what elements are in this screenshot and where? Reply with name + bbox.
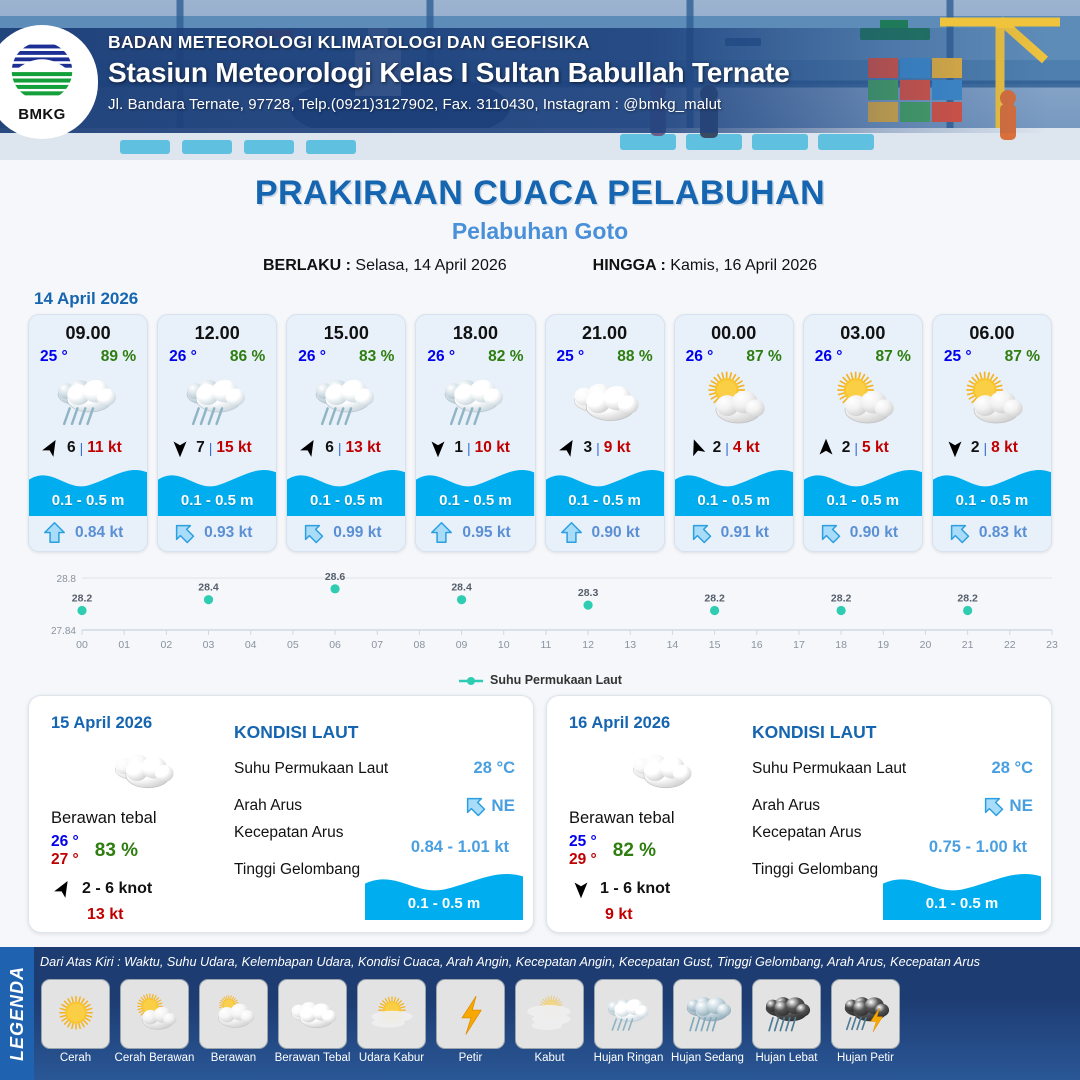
daily-wind-range: 1 - 6 knot <box>600 880 670 898</box>
daily-date: 15 April 2026 <box>51 714 234 733</box>
daily-date: 16 April 2026 <box>569 714 752 733</box>
wind-direction-arrow <box>943 436 967 460</box>
current-row: 0.83 kt <box>933 516 1051 551</box>
svg-text:21: 21 <box>962 639 974 651</box>
svg-text:15: 15 <box>709 639 721 651</box>
gust-speed: 13 kt <box>346 439 381 457</box>
current-direction-arrow <box>979 794 1006 817</box>
wave-height: 0.1 - 0.5 m <box>158 492 276 509</box>
forecast-card: 03.00 26 ° 87 % 2 | 5 kt 0.1 - 0.5 m <box>803 314 923 552</box>
forecast-time: 12.00 <box>158 315 276 344</box>
wind-row: 2 | 8 kt <box>933 434 1051 464</box>
wave-height: 0.1 - 0.5 m <box>804 492 922 509</box>
sst-row: Suhu Permukaan Laut 28 °C <box>234 750 515 787</box>
daily-gust: 13 kt <box>87 906 234 924</box>
svg-text:28.2: 28.2 <box>72 593 93 605</box>
daily-gust: 9 kt <box>605 906 752 924</box>
legend-item-label: Petir <box>459 1052 483 1064</box>
bmkg-logo-text: BMKG <box>4 106 80 123</box>
weather-condition-icon-cerah-berawan <box>804 368 922 434</box>
daily-temp-min: 26 ° <box>51 833 79 851</box>
legend-icon-cerah <box>41 979 110 1049</box>
current-direction-label: Arah Arus <box>752 797 820 815</box>
current-direction-arrow <box>558 521 585 544</box>
daily-left: 15 April 2026 Berawan tebal 26 ° 27 ° <box>29 696 234 932</box>
wave-height-block: 0.1 - 0.5 m <box>287 464 405 516</box>
sst-legend-marker <box>458 675 484 685</box>
gust-speed: 15 kt <box>216 439 251 457</box>
wave-height-block: 0.1 - 0.5 m <box>804 464 922 516</box>
weather-condition-icon-cerah-berawan <box>675 368 793 434</box>
current-direction-row: Arah Arus NE <box>752 787 1033 824</box>
forecast-time: 18.00 <box>416 315 534 344</box>
wave-height-block: 0.1 - 0.5 m <box>158 464 276 516</box>
current-direction-arrow <box>170 521 197 544</box>
legend-item-label: Berawan Tebal <box>275 1052 351 1064</box>
humidity: 83 % <box>359 348 394 366</box>
svg-text:23: 23 <box>1046 639 1058 651</box>
page-title: PRAKIRAAN CUACA PELABUHAN <box>0 174 1080 213</box>
weather-condition-icon-hujan-ringan <box>29 368 147 434</box>
legend-icon-petir <box>436 979 505 1049</box>
svg-text:20: 20 <box>920 639 932 651</box>
legend-item: Cerah <box>38 979 113 1075</box>
air-temperature: 26 ° <box>427 348 455 366</box>
weather-condition-icon-hujan-ringan <box>158 368 276 434</box>
wind-row: 7 | 15 kt <box>158 434 276 464</box>
forecast-card: 18.00 26 ° 82 % 1 | 10 kt <box>415 314 535 552</box>
wind-speed: 6 <box>67 439 76 457</box>
sst-value: 28 °C <box>992 759 1033 778</box>
wind-speed: 2 <box>842 439 851 457</box>
forecast-time: 09.00 <box>29 315 147 344</box>
legend-icon-hujan-sedang <box>673 979 742 1049</box>
legend-side-title: LEGENDA <box>0 947 34 1080</box>
humidity: 88 % <box>617 348 652 366</box>
wave-height: 0.1 - 0.5 m <box>933 492 1051 509</box>
forecast-values: 26 ° 82 % <box>416 344 534 366</box>
forecast-values: 26 ° 87 % <box>675 344 793 366</box>
svg-text:09: 09 <box>456 639 468 651</box>
legend-item: Hujan Lebat <box>749 979 824 1075</box>
daily-temps: 26 ° 27 ° <box>51 833 79 870</box>
svg-text:28.2: 28.2 <box>831 593 852 605</box>
forecast-card: 00.00 26 ° 87 % 2 | 4 kt 0.1 - 0.5 m <box>674 314 794 552</box>
svg-text:10: 10 <box>498 639 510 651</box>
current-direction-arrow <box>41 521 68 544</box>
wind-row: 6 | 11 kt <box>29 434 147 464</box>
current-row: 0.99 kt <box>287 516 405 551</box>
current-direction-value: NE <box>461 794 515 817</box>
legend-icon-kabut <box>515 979 584 1049</box>
forecast-card: 09.00 25 ° 89 % 6 | 11 kt <box>28 314 148 552</box>
air-temperature: 25 ° <box>944 348 972 366</box>
current-row: 0.91 kt <box>675 516 793 551</box>
svg-text:03: 03 <box>203 639 215 651</box>
wind-speed: 1 <box>454 439 463 457</box>
wind-row: 6 | 13 kt <box>287 434 405 464</box>
wave-height: 0.1 - 0.5 m <box>416 492 534 509</box>
valid-from-value: Selasa, 14 April 2026 <box>355 257 506 274</box>
svg-text:02: 02 <box>161 639 173 651</box>
valid-from-label: BERLAKU : <box>263 257 351 274</box>
legend-item: Berawan <box>196 979 271 1075</box>
current-direction-row: Arah Arus NE <box>234 787 515 824</box>
svg-text:01: 01 <box>118 639 130 651</box>
legend-item: Hujan Ringan <box>591 979 666 1075</box>
air-temperature: 26 ° <box>169 348 197 366</box>
forecast-card: 12.00 26 ° 86 % 7 | 15 kt <box>157 314 277 552</box>
daily-summary-list: 15 April 2026 Berawan tebal 26 ° 27 ° <box>0 687 1080 933</box>
current-row: 0.84 kt <box>29 516 147 551</box>
forecast-values: 25 ° 88 % <box>546 344 664 366</box>
daily-condition: Berawan tebal <box>51 809 234 828</box>
humidity: 89 % <box>101 348 136 366</box>
svg-text:28.2: 28.2 <box>704 593 725 605</box>
humidity: 87 % <box>876 348 911 366</box>
wave-height: 0.1 - 0.5 m <box>287 492 405 509</box>
current-speed: 0.91 kt <box>721 524 769 542</box>
current-direction-arrow <box>816 521 843 544</box>
wind-direction-arrow <box>556 436 580 460</box>
current-speed-row: Kecepatan Arus 0.75 - 1.00 kt <box>752 824 1033 857</box>
gust-speed: 4 kt <box>733 439 760 457</box>
legend-icon-list: Cerah Cerah Berawan Berawan <box>38 979 1076 1075</box>
current-direction-value: NE <box>979 794 1033 817</box>
page-header: BMKG BADAN METEOROLOGI KLIMATOLOGI DAN G… <box>0 0 1080 160</box>
current-direction-text: NE <box>491 796 515 816</box>
daily-weather-icon-berawan-tebal <box>569 739 752 801</box>
svg-text:11: 11 <box>540 639 551 651</box>
forecast-time: 03.00 <box>804 315 922 344</box>
wind-row: 1 | 10 kt <box>416 434 534 464</box>
svg-text:17: 17 <box>793 639 805 651</box>
daily-summary-card: 15 April 2026 Berawan tebal 26 ° 27 ° <box>28 695 534 933</box>
wave-height: 0.1 - 0.5 m <box>546 492 664 509</box>
legend-item: Kabut <box>512 979 587 1075</box>
svg-text:22: 22 <box>1004 639 1016 651</box>
wind-separator: | <box>338 440 342 456</box>
wind-direction-arrow <box>685 436 709 460</box>
page-subtitle: Pelabuhan Goto <box>0 218 1080 245</box>
forecast-values: 26 ° 87 % <box>804 344 922 366</box>
current-row: 0.93 kt <box>158 516 276 551</box>
wind-speed: 6 <box>325 439 334 457</box>
current-direction-text: NE <box>1009 796 1033 816</box>
wind-direction-arrow <box>814 436 838 460</box>
svg-text:13: 13 <box>624 639 636 651</box>
legend-icon-udara-kabur <box>357 979 426 1049</box>
daily-temp-max: 29 ° <box>569 851 597 869</box>
daily-summary-card: 16 April 2026 Berawan tebal 25 ° 29 ° <box>546 695 1052 933</box>
weather-condition-icon-berawan-tebal <box>546 368 664 434</box>
forecast-time: 21.00 <box>546 315 664 344</box>
daily-condition: Berawan tebal <box>569 809 752 828</box>
legend-icon-berawan <box>199 979 268 1049</box>
sst-label: Suhu Permukaan Laut <box>752 760 906 778</box>
wind-direction-arrow <box>426 436 450 460</box>
current-speed: 0.83 kt <box>979 524 1027 542</box>
wind-row: 3 | 9 kt <box>546 434 664 464</box>
current-speed: 0.99 kt <box>333 524 381 542</box>
sst-label: Suhu Permukaan Laut <box>234 760 388 778</box>
legend-item: Hujan Petir <box>828 979 903 1075</box>
legend-item-label: Berawan <box>211 1052 256 1064</box>
legend-icon-hujan-ringan <box>594 979 663 1049</box>
svg-text:07: 07 <box>371 639 383 651</box>
daily-wind-row: 2 - 6 knot <box>51 877 234 901</box>
sst-chart-canvas: 28.827.840001020304050607080910111213141… <box>20 566 1060 671</box>
forecast-values: 26 ° 83 % <box>287 344 405 366</box>
svg-text:14: 14 <box>667 639 679 651</box>
legend-item: Berawan Tebal <box>275 979 350 1075</box>
legend-item-label: Hujan Petir <box>837 1052 894 1064</box>
gust-speed: 5 kt <box>862 439 889 457</box>
legend-icon-berawan-tebal <box>278 979 347 1049</box>
valid-to-value: Kamis, 16 April 2026 <box>670 257 817 274</box>
contact-info: Jl. Bandara Ternate, 97728, Telp.(0921)3… <box>108 96 790 113</box>
legend-item: Udara Kabur <box>354 979 429 1075</box>
valid-to: HINGGA : Kamis, 16 April 2026 <box>593 257 817 275</box>
wind-row: 2 | 4 kt <box>675 434 793 464</box>
svg-text:27.84: 27.84 <box>51 626 76 637</box>
wind-speed: 2 <box>713 439 722 457</box>
wind-direction-arrow <box>39 436 63 460</box>
valid-to-label: HINGGA : <box>593 257 666 274</box>
current-direction-arrow <box>945 521 972 544</box>
legend-icon-hujan-petir <box>831 979 900 1049</box>
wave-height-block: 0.1 - 0.5 m <box>29 464 147 516</box>
legend-note: Dari Atas Kiri : Waktu, Suhu Udara, Kele… <box>40 955 980 969</box>
current-row: 0.90 kt <box>804 516 922 551</box>
forecast-card: 06.00 25 ° 87 % 2 | 8 kt 0.1 - 0.5 m <box>932 314 1052 552</box>
svg-text:28.4: 28.4 <box>198 582 219 594</box>
forecast-card: 21.00 25 ° 88 % 3 | 9 kt <box>545 314 665 552</box>
daily-wind-range: 2 - 6 knot <box>82 880 152 898</box>
air-temperature: 26 ° <box>298 348 326 366</box>
legend-item-label: Hujan Ringan <box>594 1052 664 1064</box>
daily-weather-icon-berawan-tebal <box>51 739 234 801</box>
air-temperature: 25 ° <box>40 348 68 366</box>
sea-conditions-title: KONDISI LAUT <box>752 722 1033 743</box>
wind-separator: | <box>854 440 858 456</box>
current-direction-arrow <box>299 521 326 544</box>
current-row: 0.95 kt <box>416 516 534 551</box>
legend-panel: LEGENDA Dari Atas Kiri : Waktu, Suhu Uda… <box>0 947 1080 1080</box>
wind-speed: 7 <box>196 439 205 457</box>
bmkg-logo-mark <box>4 40 80 106</box>
wind-separator: | <box>984 440 988 456</box>
forecast-time: 00.00 <box>675 315 793 344</box>
forecast-values: 25 ° 89 % <box>29 344 147 366</box>
current-direction-arrow <box>428 521 455 544</box>
svg-text:12: 12 <box>582 639 594 651</box>
current-speed: 0.93 kt <box>204 524 252 542</box>
svg-text:28.2: 28.2 <box>957 593 978 605</box>
gust-speed: 11 kt <box>87 439 121 457</box>
svg-text:04: 04 <box>245 639 257 651</box>
legend-item: Petir <box>433 979 508 1075</box>
wind-speed: 2 <box>971 439 980 457</box>
daily-wave-graphic: 0.1 - 0.5 m <box>365 868 523 920</box>
forecast-time: 15.00 <box>287 315 405 344</box>
weather-condition-icon-cerah-berawan <box>933 368 1051 434</box>
valid-from: BERLAKU : Selasa, 14 April 2026 <box>263 257 507 275</box>
sst-chart-legend: Suhu Permukaan Laut <box>0 673 1080 687</box>
wind-direction-arrow <box>168 436 192 460</box>
wave-height-block: 0.1 - 0.5 m <box>416 464 534 516</box>
sst-value: 28 °C <box>474 759 515 778</box>
current-speed: 0.95 kt <box>462 524 510 542</box>
svg-text:28.8: 28.8 <box>57 574 77 585</box>
wind-separator: | <box>725 440 729 456</box>
wave-height: 0.1 - 0.5 m <box>675 492 793 509</box>
forecast-time: 06.00 <box>933 315 1051 344</box>
daily-humidity: 82 % <box>613 840 656 862</box>
daily-temps: 25 ° 29 ° <box>569 833 597 870</box>
legend-item: Cerah Berawan <box>117 979 192 1075</box>
validity-row: BERLAKU : Selasa, 14 April 2026 HINGGA :… <box>0 257 1080 275</box>
daily-temp-min: 25 ° <box>569 833 597 851</box>
daily-temp-max: 27 ° <box>51 851 79 869</box>
svg-text:28.6: 28.6 <box>325 571 346 583</box>
gust-speed: 10 kt <box>475 439 510 457</box>
svg-text:28.4: 28.4 <box>451 582 472 594</box>
gust-speed: 8 kt <box>991 439 1018 457</box>
air-temperature: 26 ° <box>815 348 843 366</box>
daily-humidity: 83 % <box>95 840 138 862</box>
wind-separator: | <box>209 440 213 456</box>
station-name: Stasiun Meteorologi Kelas I Sultan Babul… <box>108 57 790 89</box>
wind-speed: 3 <box>584 439 593 457</box>
svg-text:19: 19 <box>877 639 889 651</box>
hourly-forecast-list: 09.00 25 ° 89 % 6 | 11 kt <box>0 314 1080 552</box>
sst-row: Suhu Permukaan Laut 28 °C <box>752 750 1033 787</box>
gust-speed: 9 kt <box>604 439 631 457</box>
svg-text:05: 05 <box>287 639 299 651</box>
svg-text:28.3: 28.3 <box>578 587 599 599</box>
weather-condition-icon-hujan-ringan <box>287 368 405 434</box>
humidity: 87 % <box>1005 348 1040 366</box>
wind-separator: | <box>80 440 84 456</box>
daily-wave-value: 0.1 - 0.5 m <box>883 895 1041 912</box>
current-direction-label: Arah Arus <box>234 797 302 815</box>
current-row: 0.90 kt <box>546 516 664 551</box>
daily-sea-conditions: KONDISI LAUT Suhu Permukaan Laut 28 °C A… <box>234 696 533 932</box>
weather-condition-icon-hujan-ringan <box>416 368 534 434</box>
daily-wind-row: 1 - 6 knot <box>569 877 752 901</box>
wind-direction-arrow <box>297 436 321 460</box>
daily-wave-value: 0.1 - 0.5 m <box>365 895 523 912</box>
svg-text:08: 08 <box>414 639 426 651</box>
svg-text:16: 16 <box>751 639 763 651</box>
legend-item-label: Cerah Berawan <box>115 1052 195 1064</box>
wave-height-block: 0.1 - 0.5 m <box>675 464 793 516</box>
forecast-date-label: 14 April 2026 <box>34 289 1080 309</box>
current-direction-arrow <box>461 794 488 817</box>
current-speed: 0.90 kt <box>850 524 898 542</box>
agency-name: BADAN METEOROLOGI KLIMATOLOGI DAN GEOFIS… <box>108 32 790 53</box>
wind-row: 2 | 5 kt <box>804 434 922 464</box>
daily-temp-row: 25 ° 29 ° 82 % <box>569 833 752 870</box>
legend-item-label: Udara Kabur <box>359 1052 424 1064</box>
svg-text:18: 18 <box>835 639 847 651</box>
air-temperature: 25 ° <box>557 348 585 366</box>
current-speed-row: Kecepatan Arus 0.84 - 1.01 kt <box>234 824 515 857</box>
current-direction-arrow <box>687 521 714 544</box>
legend-item-label: Cerah <box>60 1052 91 1064</box>
sst-legend-label: Suhu Permukaan Laut <box>490 673 622 687</box>
wind-direction-arrow <box>51 877 75 901</box>
wind-separator: | <box>467 440 471 456</box>
legend-item-label: Kabut <box>534 1052 564 1064</box>
wave-height-block: 0.1 - 0.5 m <box>546 464 664 516</box>
sst-chart: 28.827.840001020304050607080910111213141… <box>20 566 1060 671</box>
svg-text:06: 06 <box>329 639 341 651</box>
air-temperature: 26 ° <box>686 348 714 366</box>
daily-wave-graphic: 0.1 - 0.5 m <box>883 868 1041 920</box>
humidity: 86 % <box>230 348 265 366</box>
daily-sea-conditions: KONDISI LAUT Suhu Permukaan Laut 28 °C A… <box>752 696 1051 932</box>
legend-icon-hujan-lebat <box>752 979 821 1049</box>
legend-icon-cerah-berawan <box>120 979 189 1049</box>
sea-conditions-title: KONDISI LAUT <box>234 722 515 743</box>
current-speed: 0.90 kt <box>592 524 640 542</box>
forecast-values: 26 ° 86 % <box>158 344 276 366</box>
legend-item-label: Hujan Sedang <box>671 1052 744 1064</box>
humidity: 82 % <box>488 348 523 366</box>
wind-direction-arrow <box>569 877 593 901</box>
forecast-card: 15.00 26 ° 83 % 6 | 13 kt <box>286 314 406 552</box>
current-speed: 0.84 kt <box>75 524 123 542</box>
svg-text:00: 00 <box>76 639 88 651</box>
wind-separator: | <box>596 440 600 456</box>
wave-height-block: 0.1 - 0.5 m <box>933 464 1051 516</box>
humidity: 87 % <box>746 348 781 366</box>
forecast-values: 25 ° 87 % <box>933 344 1051 366</box>
wave-height: 0.1 - 0.5 m <box>29 492 147 509</box>
daily-left: 16 April 2026 Berawan tebal 25 ° 29 ° <box>547 696 752 932</box>
legend-item: Hujan Sedang <box>670 979 745 1075</box>
daily-temp-row: 26 ° 27 ° 83 % <box>51 833 234 870</box>
legend-side-text: LEGENDA <box>7 966 28 1061</box>
legend-item-label: Hujan Lebat <box>755 1052 817 1064</box>
